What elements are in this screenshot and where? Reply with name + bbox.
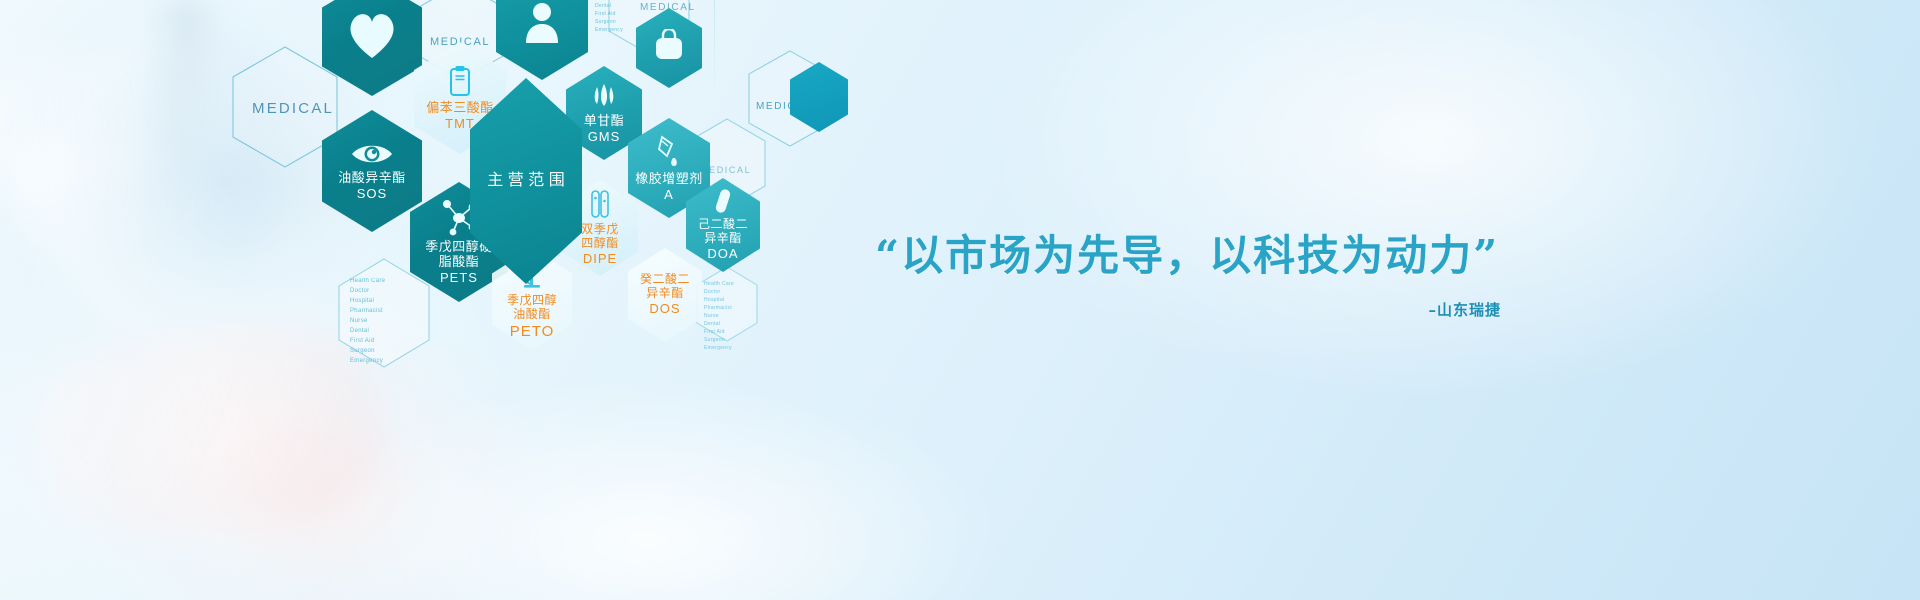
flame-icon <box>590 82 618 110</box>
heart-icon <box>345 10 399 60</box>
core-title-char-1: 主 <box>487 172 503 189</box>
core-title-char-4: 围 <box>549 172 565 189</box>
hex-sos-en: SOS <box>357 187 387 202</box>
hex-dipe-cn-2: 四醇酯 <box>581 237 619 251</box>
connector-line <box>714 0 715 100</box>
hex-doa-cn-1: 己二酸二 <box>698 218 748 232</box>
hex-peto-en: PETO <box>510 323 555 340</box>
core-title-char-2: 营 <box>508 172 524 189</box>
eye-icon <box>351 141 393 167</box>
hex-pets-en: PETS <box>440 271 478 286</box>
hex-dos[interactable]: 癸二酸二 异辛酯 DOS <box>628 248 702 342</box>
hex-peto-cn-1: 季戊四醇 <box>507 294 557 308</box>
hex-sos-cn: 油酸异辛酯 <box>338 171 406 186</box>
hex-dos-cn-2: 异辛酯 <box>646 287 684 301</box>
hex-peto-cn-2: 油酸酯 <box>513 308 551 322</box>
banner-root: MEDICAL MEDICAL MEDICAL MEDICAL MEDICAL <box>0 0 1920 600</box>
hex-gms-en: GMS <box>588 130 621 145</box>
hex-rubber-cn: 橡胶增塑剂 <box>635 172 703 187</box>
test-tubes-icon <box>588 189 612 219</box>
hex-doa-cn-2: 异辛酯 <box>704 232 742 246</box>
hex-doa-en: DOA <box>707 247 738 262</box>
hex-person[interactable] <box>496 0 588 80</box>
hexagon-cluster: MEDICAL MEDICAL MEDICAL MEDICAL MEDICAL <box>0 0 940 600</box>
hex-pets-cn-2: 脂酸酯 <box>439 255 480 270</box>
slogan-text: “以市场为先导，以科技为动力” <box>875 222 1515 283</box>
hex-label-medical-left: MEDICAL <box>252 100 334 117</box>
capsule-icon <box>713 188 733 214</box>
core-title-char-3: 范 <box>528 172 544 189</box>
core-title: 主 营 范 围 <box>487 172 564 190</box>
hex-rubber-en: A <box>664 188 674 203</box>
micro-list-left: Health CareDoctorHospitalPharmacistNurse… <box>350 276 385 366</box>
hex-dos-en: DOS <box>649 302 680 317</box>
hex-dipe-cn-1: 双季戊 <box>581 223 619 237</box>
slogan-block: “以市场为先导，以科技为动力” –山东瑞捷 <box>875 222 1515 320</box>
hex-gms-cn: 单甘酯 <box>584 114 625 129</box>
background-glow-5 <box>980 0 1880 400</box>
clipboard-icon <box>449 65 471 97</box>
micro-list-right: Health CareDoctorHospitalPharmacistNurse… <box>704 280 734 352</box>
hex-tmt-cn: 偏苯三酸酯 <box>426 101 494 116</box>
syringe-drop-icon <box>656 134 682 168</box>
person-icon <box>522 0 562 45</box>
slogan-signature: –山东瑞捷 <box>875 299 1515 320</box>
medical-bag-icon <box>652 29 686 63</box>
hex-dos-cn-1: 癸二酸二 <box>640 273 690 287</box>
hex-dipe-en: DIPE <box>583 252 617 267</box>
micro-list-top: Health CareDoctorHospitalPharmacistNurse… <box>595 0 625 34</box>
